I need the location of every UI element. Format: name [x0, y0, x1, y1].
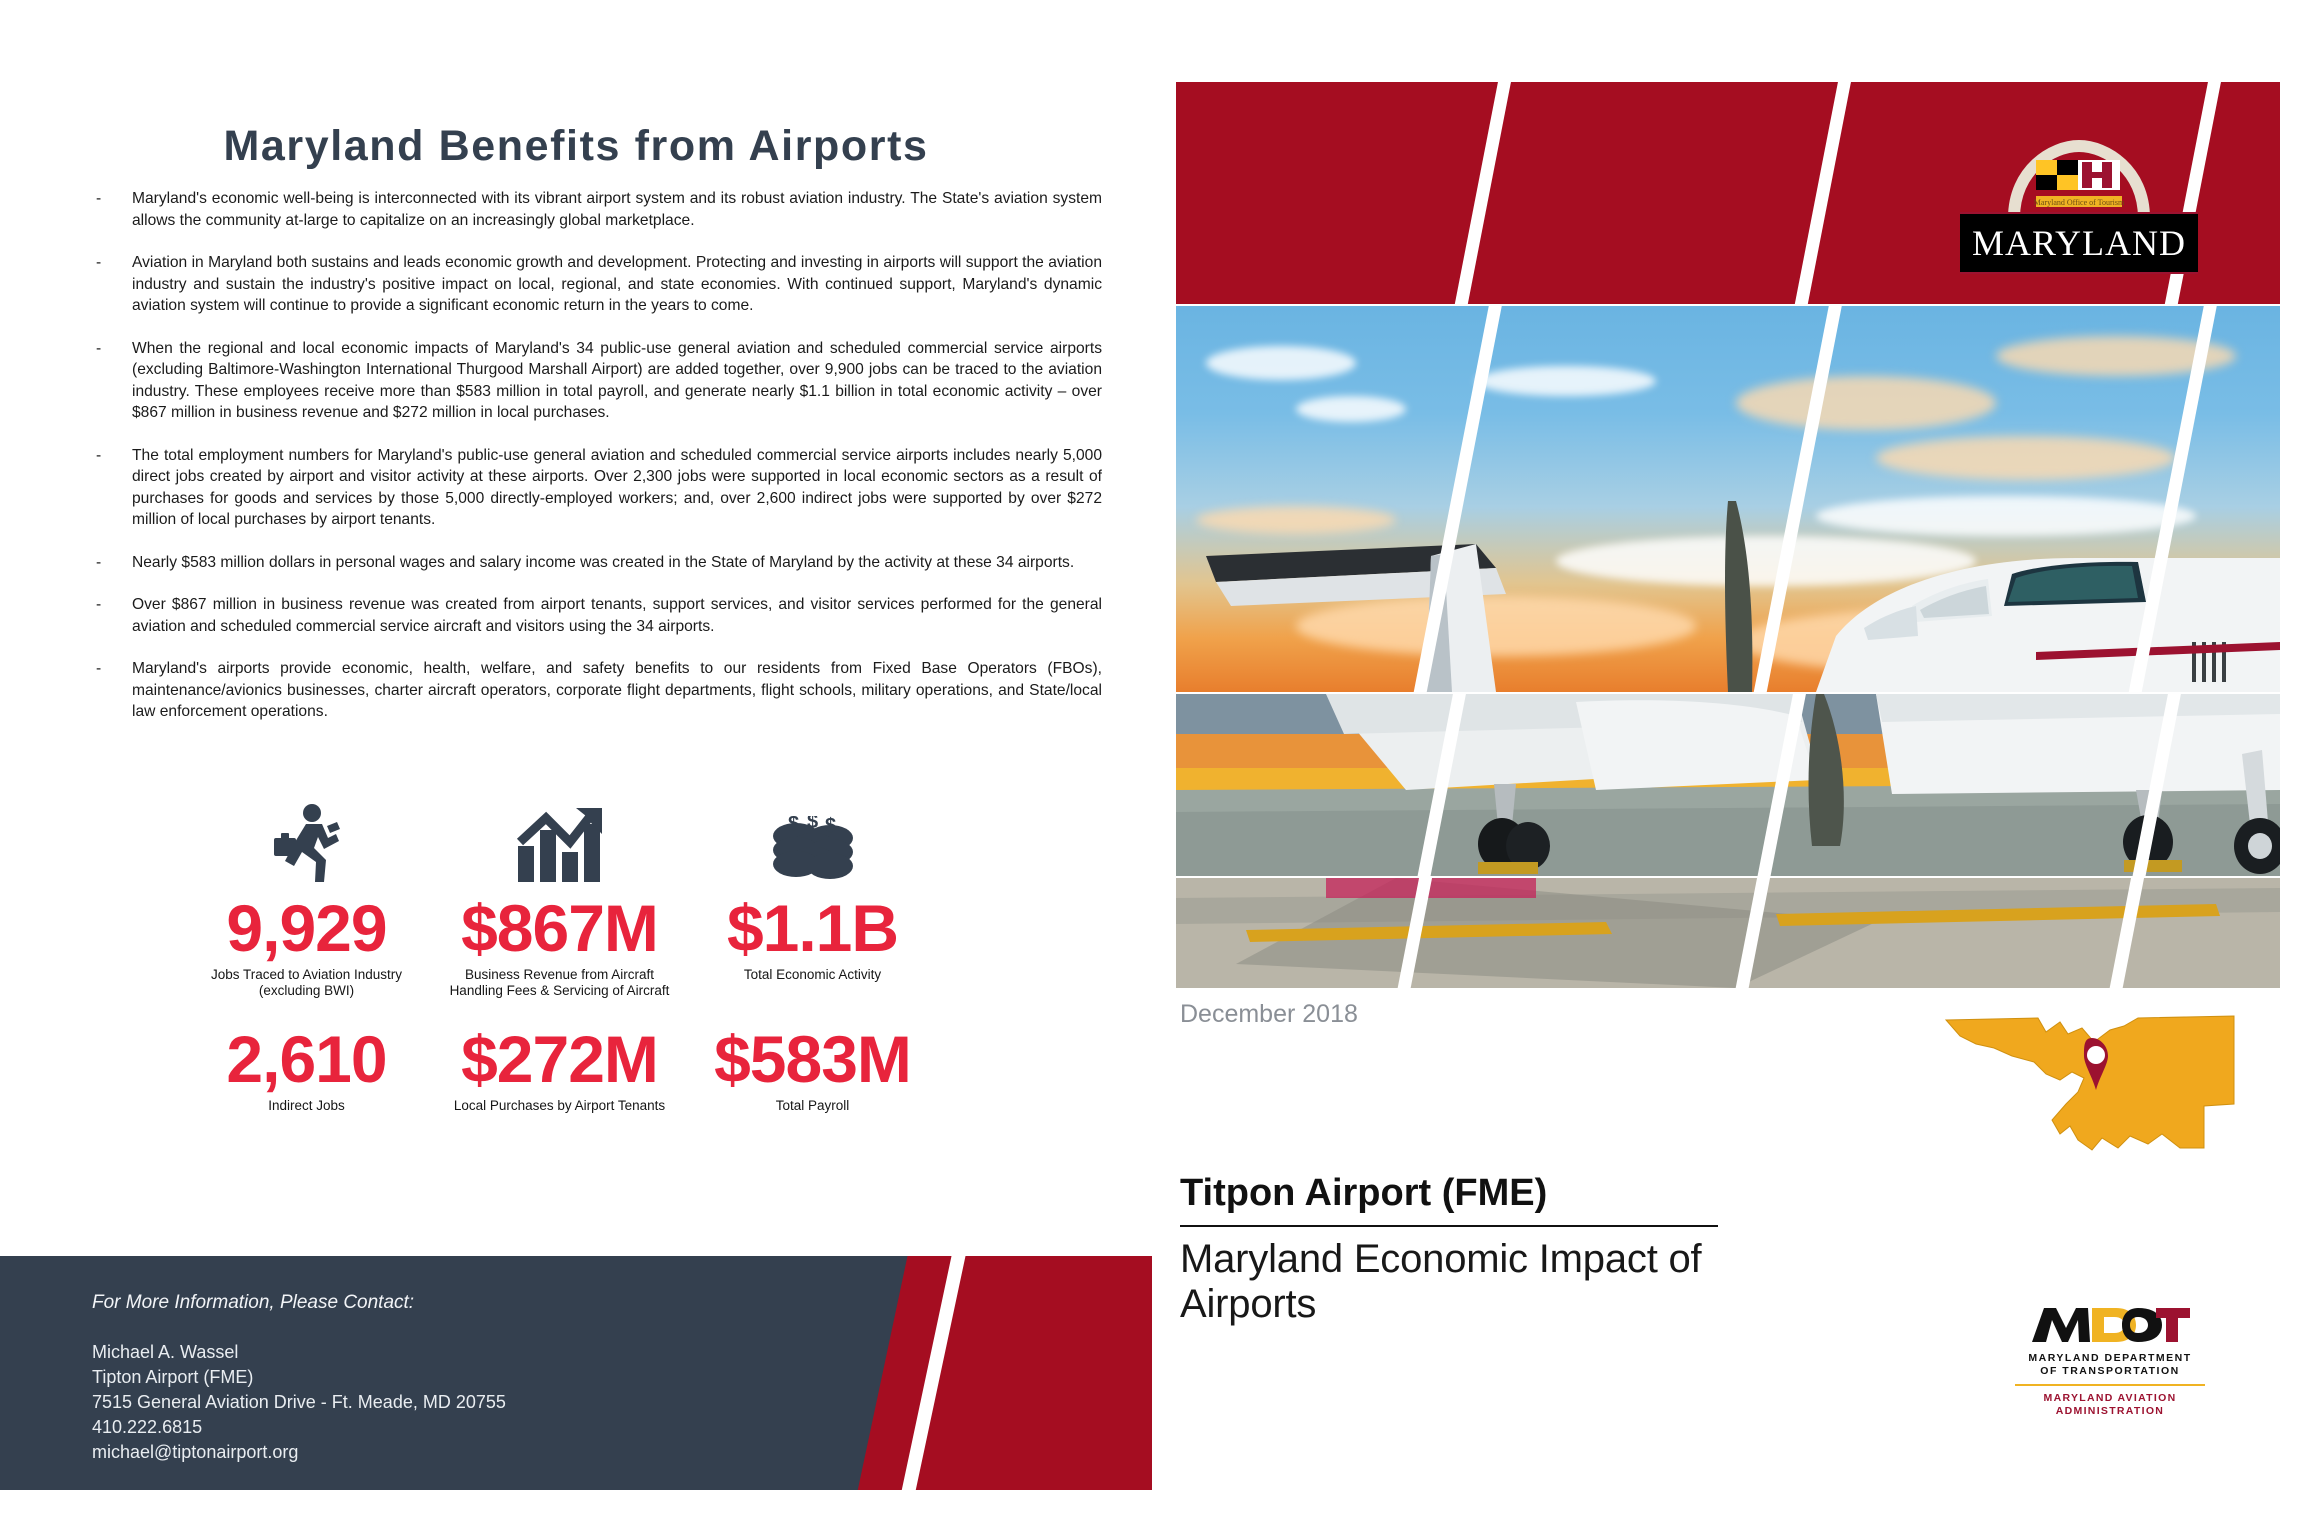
stat-label: Total Payroll: [686, 1098, 939, 1114]
contact-organization: Tipton Airport (FME): [92, 1365, 506, 1390]
stat-indirect-jobs: 2,610 Indirect Jobs: [180, 1023, 433, 1114]
contact-address: 7515 General Aviation Drive - Ft. Meade,…: [92, 1390, 506, 1415]
stat-jobs-traced: 9,929 Jobs Traced to Aviation Industry (…: [180, 800, 433, 999]
mdot-logo: MARYLAND DEPARTMENT OF TRANSPORTATION MA…: [1990, 1302, 2230, 1418]
statistics-row-1: 9,929 Jobs Traced to Aviation Industry (…: [180, 800, 940, 999]
stat-label-line-1: Jobs Traced to Aviation Industry: [211, 967, 402, 982]
footer-red-accent: [854, 1256, 1152, 1490]
publication-date: December 2018: [1180, 1000, 1358, 1029]
svg-text:$: $: [807, 816, 818, 833]
stat-total-payroll: $583M Total Payroll: [686, 1023, 939, 1114]
stat-label-line-1: Total Economic Activity: [744, 967, 881, 982]
list-item: - Maryland's airports provide economic, …: [92, 658, 1102, 723]
stat-value: 9,929: [180, 892, 433, 964]
stat-label: Business Revenue from Aircraft Handling …: [433, 967, 686, 999]
state-logo-wordmark: MARYLAND: [1972, 222, 2186, 264]
stat-local-purchases: $272M Local Purchases by Airport Tenants: [433, 1023, 686, 1114]
mdot-administration-line-2: ADMINISTRATION: [2056, 1405, 2164, 1417]
list-item: - Over $867 million in business revenue …: [92, 594, 1102, 637]
bullet-dash: -: [96, 338, 101, 360]
bullet-dash: -: [96, 658, 101, 680]
stat-value: $1.1B: [686, 892, 939, 964]
list-item-text: Maryland's airports provide economic, he…: [132, 660, 1102, 720]
stat-business-revenue: $867M Business Revenue from Aircraft Han…: [433, 800, 686, 999]
contact-details: For More Information, Please Contact: Mi…: [92, 1292, 506, 1465]
bullet-dash: -: [96, 445, 101, 467]
mdot-department-line-1: MARYLAND DEPARTMENT: [2028, 1352, 2191, 1364]
mdot-administration-line-1: MARYLAND AVIATION: [2044, 1392, 2177, 1404]
list-item: - Aviation in Maryland both sustains and…: [92, 252, 1102, 317]
stat-value: $867M: [433, 892, 686, 964]
stat-value: $583M: [686, 1023, 939, 1095]
maryland-map-graphic: [1942, 1008, 2242, 1153]
state-logo-motto: Maryland Office of Tourism: [2034, 198, 2125, 207]
svg-text:$: $: [788, 816, 799, 835]
maryland-state-logo: Maryland Office of Tourism MARYLAND: [1960, 140, 2198, 280]
svg-text:$: $: [825, 816, 836, 837]
brochure-page: Maryland Benefits from Airports - Maryla…: [0, 0, 2304, 1536]
mdot-wordmark-svg: [2030, 1302, 2190, 1348]
list-item: - The total employment numbers for Maryl…: [92, 445, 1102, 531]
stacked-coins-icon: $ $ $: [686, 800, 939, 886]
mdot-wordmark: [1990, 1302, 2230, 1348]
maryland-map-svg: [1942, 1008, 2242, 1153]
bullet-dash: -: [96, 552, 101, 574]
stat-label: Total Economic Activity: [686, 967, 939, 983]
list-item-text: Aviation in Maryland both sustains and l…: [132, 254, 1102, 314]
mdot-administration-text: MARYLAND AVIATION ADMINISTRATION: [1990, 1392, 2230, 1418]
stat-label: Indirect Jobs: [180, 1098, 433, 1114]
list-item: - Nearly $583 million dollars in persona…: [92, 552, 1102, 574]
stat-label-line-2: (excluding BWI): [259, 983, 354, 998]
aircraft-photo-middle: [1176, 694, 2280, 876]
aircraft-middle-svg: [1176, 694, 2280, 876]
growth-chart-icon: [433, 800, 686, 886]
report-subtitle: Maryland Economic Impact of Airports: [1180, 1237, 1750, 1327]
stat-value: 2,610: [180, 1023, 433, 1095]
stat-label-line-1: Business Revenue from Aircraft: [465, 967, 654, 982]
left-content-panel: Maryland Benefits from Airports - Maryla…: [0, 0, 1152, 1536]
stat-label: Local Purchases by Airport Tenants: [433, 1098, 686, 1114]
list-item-text: Over $867 million in business revenue wa…: [132, 596, 1102, 635]
list-item: - Maryland's economic well-being is inte…: [92, 188, 1102, 231]
stat-total-economic-activity: $ $ $ $1.1B Total Economic Activity: [686, 800, 939, 999]
airport-name: Titpon Airport (FME): [1180, 1172, 1750, 1215]
running-businessman-icon: [180, 800, 433, 886]
list-item: - When the regional and local economic i…: [92, 338, 1102, 424]
stat-label: Jobs Traced to Aviation Industry (exclud…: [180, 967, 433, 999]
statistics-grid: 9,929 Jobs Traced to Aviation Industry (…: [180, 800, 940, 1114]
mdot-department-line-2: OF TRANSPORTATION: [2040, 1365, 2179, 1377]
right-cover-panel: Maryland Office of Tourism MARYLAND: [1152, 0, 2304, 1536]
benefits-bullet-list: - Maryland's economic well-being is inte…: [92, 188, 1102, 723]
stat-value: $272M: [433, 1023, 686, 1095]
title-divider: [1180, 1225, 1718, 1227]
aircraft-photo-tarmac: [1176, 878, 2280, 988]
list-item-text: When the regional and local economic imp…: [132, 340, 1102, 422]
contact-email[interactable]: michael@tiptonairport.org: [92, 1440, 506, 1465]
contact-footer: For More Information, Please Contact: Mi…: [0, 1256, 1152, 1490]
contact-phone[interactable]: 410.222.6815: [92, 1415, 506, 1440]
contact-heading: For More Information, Please Contact:: [92, 1292, 506, 1314]
aircraft-upper-svg: [1176, 306, 2280, 692]
bullet-dash: -: [96, 188, 101, 210]
contact-name: Michael A. Wassel: [92, 1340, 506, 1365]
stat-label-line-2: Handling Fees & Servicing of Aircraft: [450, 983, 670, 998]
bullet-dash: -: [96, 252, 101, 274]
mdot-department-text: MARYLAND DEPARTMENT OF TRANSPORTATION: [1990, 1352, 2230, 1378]
bullet-dash: -: [96, 594, 101, 616]
aircraft-photo-upper: [1176, 306, 2280, 692]
cover-title-block: Titpon Airport (FME) Maryland Economic I…: [1180, 1172, 1750, 1327]
list-item-text: Maryland's economic well-being is interc…: [132, 190, 1102, 229]
state-logo-bar: MARYLAND: [1960, 212, 2198, 274]
list-item-text: The total employment numbers for Marylan…: [132, 447, 1102, 529]
list-item-text: Nearly $583 million dollars in personal …: [132, 554, 1074, 571]
page-title: Maryland Benefits from Airports: [0, 122, 1152, 171]
statistics-row-2: 2,610 Indirect Jobs $272M Local Purchase…: [180, 1023, 940, 1114]
mdot-divider: [2015, 1384, 2205, 1386]
